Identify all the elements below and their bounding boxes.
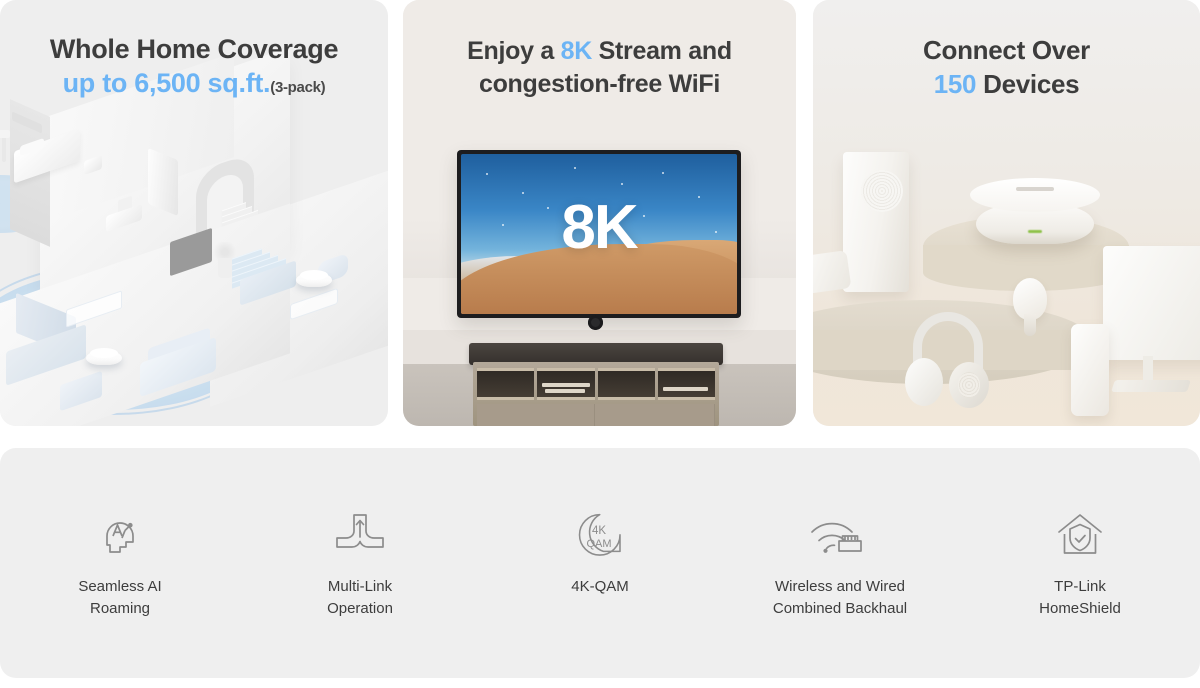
panel-2-heading-line1: Enjoy a 8K Stream and xyxy=(403,35,796,68)
mesh-router-patio xyxy=(296,270,332,288)
media-console-shelves xyxy=(477,368,715,400)
panel-8k-stream: 8K xyxy=(403,0,796,426)
tv-camera-icon xyxy=(588,315,603,330)
panel-2-8k-accent: 8K xyxy=(561,37,592,65)
headphones xyxy=(905,312,991,408)
feature-seamless-ai-roaming: Seamless AI Roaming xyxy=(20,504,220,620)
router-branding-mark xyxy=(1016,187,1054,191)
wardrobe xyxy=(148,148,178,216)
panel-2-heading: Enjoy a 8K Stream and congestion-free Wi… xyxy=(403,0,796,101)
wifi-ethernet-icon xyxy=(740,504,940,566)
smartphone xyxy=(1071,324,1109,416)
feature-combined-backhaul: Wireless and Wired Combined Backhaul xyxy=(740,504,940,620)
console-door-2 xyxy=(598,404,716,426)
floor-lamp-shade xyxy=(0,130,10,138)
tv-screen: 8K xyxy=(461,154,737,314)
panel-whole-home-coverage: Whole Home Coverage up to 6,500 sq.ft.(3… xyxy=(0,0,388,426)
shelf-1 xyxy=(477,368,534,400)
ai-head-icon xyxy=(20,504,220,566)
shelf-2 xyxy=(537,368,594,400)
feature-label: Multi-Link Operation xyxy=(260,576,460,620)
feature-tp-link-homeshield: TP-Link HomeShield xyxy=(980,504,1180,620)
panel-1-heading-line1: Whole Home Coverage xyxy=(0,32,388,66)
panel-connect-devices: Connect Over 150 Devices xyxy=(813,0,1200,426)
smart-light-bulb xyxy=(1013,278,1047,340)
4k-qam-icon: 4K QAM xyxy=(500,504,700,566)
computer-monitor xyxy=(1103,246,1200,360)
floor-lamp-pole xyxy=(2,136,6,162)
panel-3-heading-line2: 150 Devices xyxy=(813,67,1200,101)
home-shield-icon xyxy=(980,504,1180,566)
game-controller xyxy=(813,250,851,294)
game-console-vent xyxy=(861,170,903,212)
panel-1-pack-note: (3-pack) xyxy=(270,79,325,96)
svg-text:4K: 4K xyxy=(592,525,606,537)
feature-label: Wireless and Wired Combined Backhaul xyxy=(740,576,940,620)
router-status-led xyxy=(1028,230,1042,233)
shelf-4 xyxy=(658,368,715,400)
tv-screen-8k-label: 8K xyxy=(461,192,737,263)
monitor-stand-foot xyxy=(1111,380,1191,392)
panel-3-heading: Connect Over 150 Devices xyxy=(813,0,1200,101)
feature-panels-row: Whole Home Coverage up to 6,500 sq.ft.(3… xyxy=(0,0,1200,426)
plant-pot xyxy=(218,258,232,278)
television: 8K xyxy=(457,150,741,318)
feature-label: 4K-QAM xyxy=(500,576,700,598)
feature-label: TP-Link HomeShield xyxy=(980,576,1180,620)
feature-4k-qam: 4K QAM 4K-QAM xyxy=(500,504,700,598)
feature-label: Seamless AI Roaming xyxy=(20,576,220,620)
isometric-house-illustration xyxy=(0,100,388,426)
console-door-1 xyxy=(477,404,595,426)
panel-1-heading: Whole Home Coverage up to 6,500 sq.ft.(3… xyxy=(0,0,388,105)
panel-2-heading-line2: congestion-free WiFi xyxy=(403,68,796,101)
shelf-3 xyxy=(598,368,655,400)
svg-text:QAM: QAM xyxy=(586,538,611,550)
media-console-doors xyxy=(477,404,715,426)
feature-highlights-bar: Seamless AI Roaming Multi-Link Operation xyxy=(0,448,1200,678)
marketing-feature-page: Whole Home Coverage up to 6,500 sq.ft.(3… xyxy=(0,0,1200,688)
panel-1-heading-line2: up to 6,500 sq.ft.(3-pack) xyxy=(0,66,388,105)
multi-link-icon xyxy=(260,504,460,566)
mesh-router-device xyxy=(970,178,1100,244)
panel-1-coverage-value: up to 6,500 sq.ft. xyxy=(63,68,271,98)
panel-3-device-count: 150 xyxy=(934,69,976,99)
panel-3-heading-line1: Connect Over xyxy=(813,33,1200,67)
mesh-router-living-room xyxy=(86,348,122,366)
feature-multi-link-operation: Multi-Link Operation xyxy=(260,504,460,620)
